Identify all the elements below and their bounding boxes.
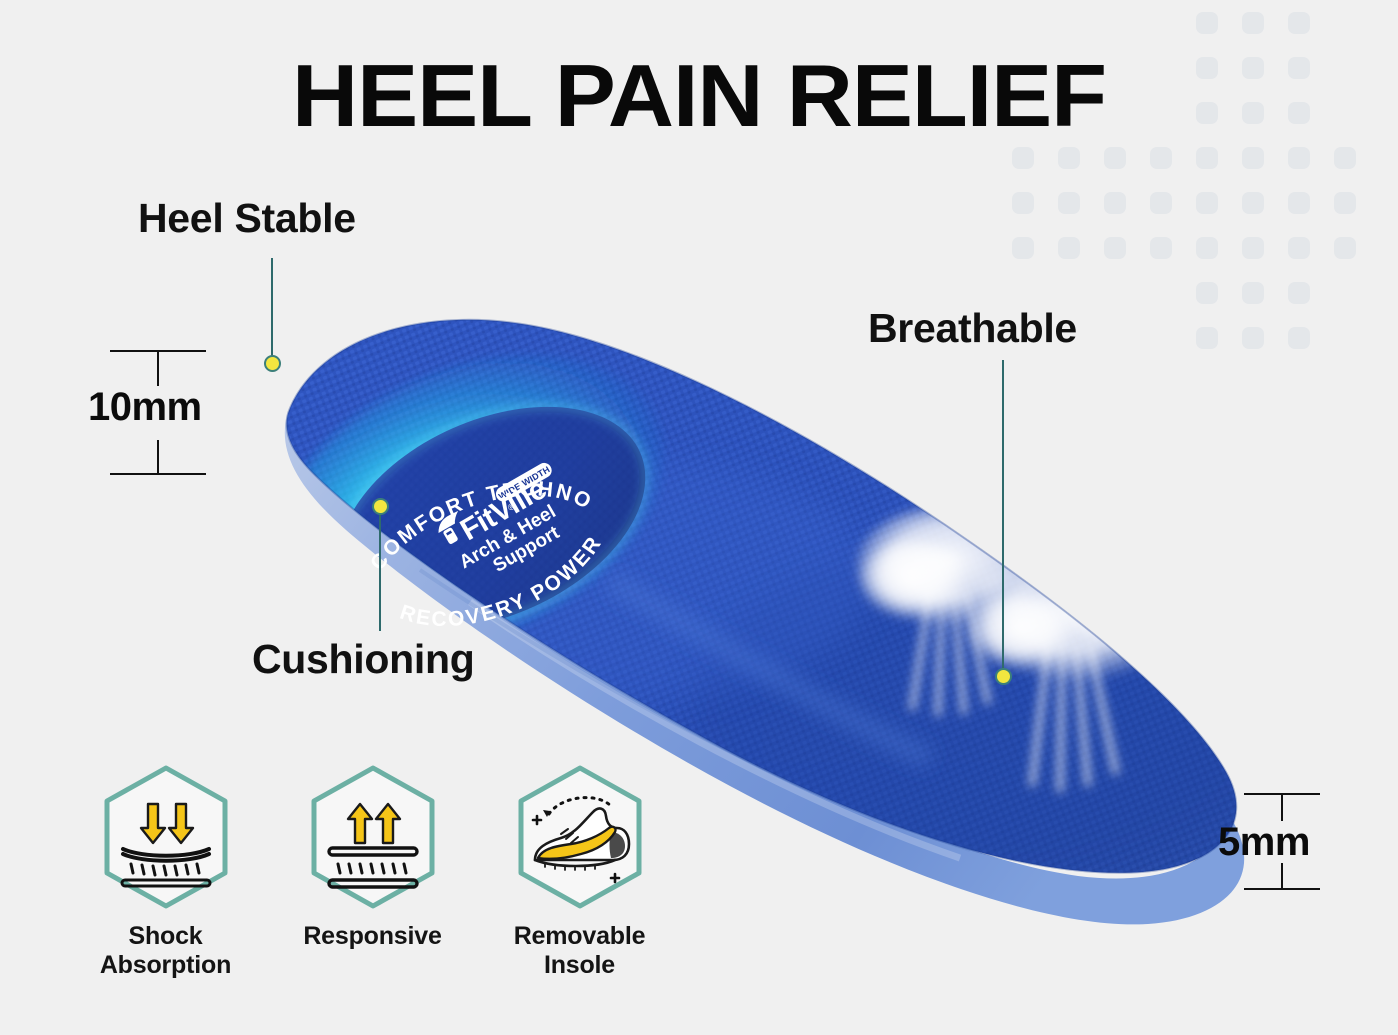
background-dot xyxy=(1242,12,1264,34)
callout-leader-breathable xyxy=(1002,360,1004,675)
callout-leader-cushioning xyxy=(379,513,381,631)
callout-hotspot-heel-stable xyxy=(264,355,281,372)
background-dot xyxy=(1288,12,1310,34)
background-dot xyxy=(1104,237,1126,259)
background-dot xyxy=(1012,237,1034,259)
background-dot xyxy=(1196,147,1218,169)
dimension-value-5mm: 5mm xyxy=(1218,820,1310,865)
feature-label-shock-absorption: Shock Absorption xyxy=(100,922,231,979)
background-dot xyxy=(1058,192,1080,214)
callout-label-cushioning: Cushioning xyxy=(252,636,474,683)
dimension-value-10mm: 10mm xyxy=(88,385,202,430)
dimension-marker-heel-thickness: 10mm xyxy=(110,350,206,475)
dimension-stem-bottom xyxy=(157,440,159,473)
background-dot xyxy=(1150,192,1172,214)
background-dot xyxy=(1288,327,1310,349)
background-dot xyxy=(1196,237,1218,259)
background-dot xyxy=(1288,192,1310,214)
hex-badge-shock-absorption xyxy=(91,762,241,912)
dimension-stem-top xyxy=(157,352,159,386)
dimension-stem-top xyxy=(1281,795,1283,821)
feature-label-responsive: Responsive xyxy=(303,922,441,951)
feature-removable-insole: Removable Insole xyxy=(476,762,683,1012)
callout-hotspot-cushioning xyxy=(372,498,389,515)
background-dot xyxy=(1196,192,1218,214)
hex-badge-responsive xyxy=(298,762,448,912)
feature-badge-row: Shock Absorption xyxy=(62,762,702,1012)
infographic-canvas: HEEL PAIN RELIEF xyxy=(0,0,1398,1035)
background-dot xyxy=(1334,192,1356,214)
dimension-stem-bottom xyxy=(1281,863,1283,888)
dimension-tick-bottom xyxy=(110,473,206,475)
callout-leader-heel-stable xyxy=(271,258,273,362)
background-dot xyxy=(1288,147,1310,169)
background-dot xyxy=(1012,147,1034,169)
background-dot xyxy=(1104,192,1126,214)
background-dot xyxy=(1288,237,1310,259)
dimension-marker-forefoot-thickness: 5mm xyxy=(1244,793,1320,890)
page-title: HEEL PAIN RELIEF xyxy=(0,52,1398,140)
background-dot xyxy=(1012,192,1034,214)
background-dot xyxy=(1196,12,1218,34)
background-dot xyxy=(1058,237,1080,259)
background-dot xyxy=(1334,237,1356,259)
callout-label-heel-stable: Heel Stable xyxy=(138,195,356,242)
background-dot xyxy=(1242,237,1264,259)
background-dot xyxy=(1242,147,1264,169)
feature-responsive: Responsive xyxy=(269,762,476,1012)
callout-label-breathable: Breathable xyxy=(868,305,1077,352)
background-dot xyxy=(1150,147,1172,169)
background-dot xyxy=(1104,147,1126,169)
background-dot xyxy=(1150,237,1172,259)
background-dot xyxy=(1242,192,1264,214)
dimension-tick-bottom xyxy=(1244,888,1320,890)
hex-badge-removable-insole xyxy=(505,762,655,912)
background-dot xyxy=(1058,147,1080,169)
background-dot xyxy=(1288,282,1310,304)
feature-shock-absorption: Shock Absorption xyxy=(62,762,269,1012)
feature-label-removable-insole: Removable Insole xyxy=(514,922,646,979)
callout-hotspot-breathable xyxy=(995,668,1012,685)
background-dot xyxy=(1334,147,1356,169)
